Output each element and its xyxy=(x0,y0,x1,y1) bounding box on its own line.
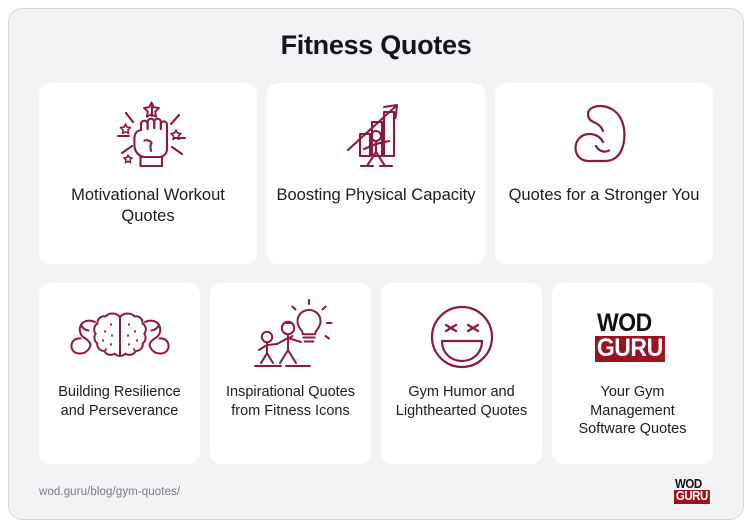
card-building-resilience-and-perseverance[interactable]: Building Resilience and Perseverance xyxy=(39,283,200,464)
card-grid: Motivational Workout Quotes xyxy=(9,61,743,464)
card-label: Quotes for a Stronger You xyxy=(509,179,700,254)
page-title: Fitness Quotes xyxy=(9,31,743,61)
card-label: Your Gym Management Software Quotes xyxy=(560,377,705,454)
footer-wodguru-logo: WOD GURU xyxy=(674,478,713,506)
card-label: Gym Humor and Lighthearted Quotes xyxy=(389,377,534,454)
wodguru-logo: WOD GURU xyxy=(595,297,671,377)
card-boosting-physical-capacity[interactable]: Boosting Physical Capacity xyxy=(267,83,485,264)
raised-fist-with-stars-icon xyxy=(106,97,190,179)
infographic-frame: Fitness Quotes xyxy=(8,8,744,520)
wodguru-logo-wod: WOD xyxy=(597,311,665,336)
card-motivational-workout-quotes[interactable]: Motivational Workout Quotes xyxy=(39,83,257,264)
card-gym-humor-and-lighthearted-quotes[interactable]: Gym Humor and Lighthearted Quotes xyxy=(381,283,542,464)
footer-logo-guru: GURU xyxy=(674,490,710,504)
card-label: Boosting Physical Capacity xyxy=(276,179,475,254)
laughing-face-icon xyxy=(424,297,500,377)
card-label: Building Resilience and Perseverance xyxy=(47,377,192,454)
footer: wod.guru/blog/gym-quotes/ WOD GURU xyxy=(9,464,743,520)
card-quotes-for-a-stronger-you[interactable]: Quotes for a Stronger You xyxy=(495,83,713,264)
flexed-bicep-arm-icon xyxy=(562,97,646,179)
footer-url: wod.guru/blog/gym-quotes/ xyxy=(39,486,180,498)
bar-chart-growth-arrow-athlete-icon xyxy=(334,97,418,179)
brain-with-flexing-arms-icon xyxy=(70,297,170,377)
card-row-1: Motivational Workout Quotes xyxy=(39,83,713,264)
card-label: Motivational Workout Quotes xyxy=(47,179,249,254)
card-your-gym-management-software-quotes[interactable]: WOD GURU Your Gym Management Software Qu… xyxy=(552,283,713,464)
wodguru-logo-guru: GURU xyxy=(595,336,665,362)
card-row-2: Building Resilience and Perseverance xyxy=(39,283,713,464)
person-helping-person-lightbulb-icon xyxy=(248,297,334,377)
card-label: Inspirational Quotes from Fitness Icons xyxy=(218,377,363,454)
card-inspirational-quotes-from-fitness-icons[interactable]: Inspirational Quotes from Fitness Icons xyxy=(210,283,371,464)
